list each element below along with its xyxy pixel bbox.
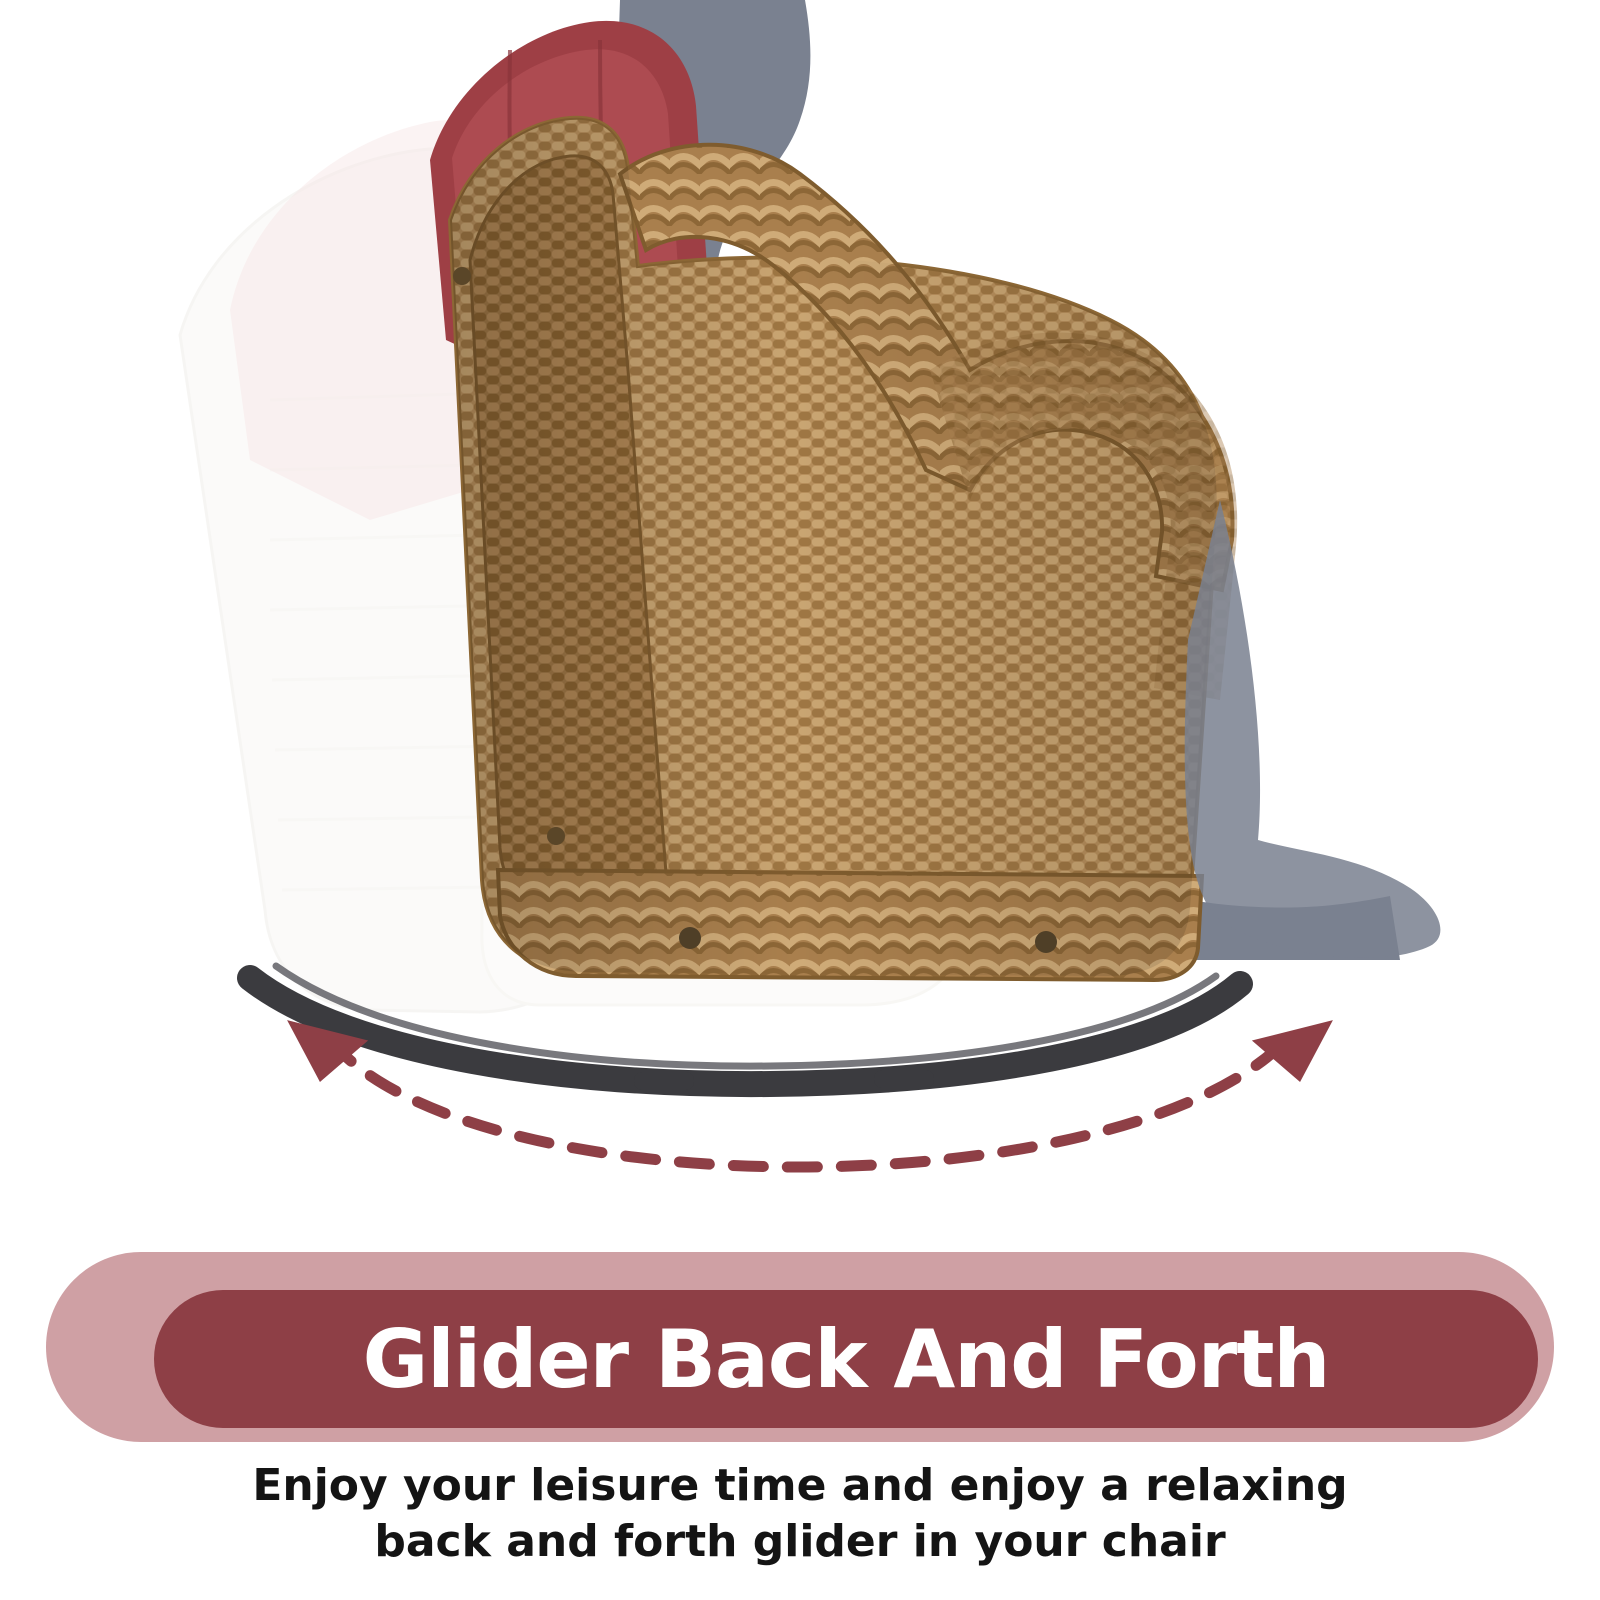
back-and-forth-arc-arrow <box>0 980 1600 1220</box>
bolt-seat-left <box>679 927 701 949</box>
caption-block: Glider Back And Forth Enjoy your leisure… <box>0 1240 1600 1600</box>
banner-title: Glider Back And Forth <box>363 1313 1330 1406</box>
chair-shadow <box>1180 500 1600 980</box>
subcaption: Enjoy your leisure time and enjoy a rela… <box>0 1458 1600 1571</box>
bolt-seat-right <box>1035 931 1057 953</box>
arrow-head-left <box>287 991 375 1082</box>
subcaption-line-1: Enjoy your leisure time and enjoy a rela… <box>0 1458 1600 1514</box>
banner-inner-pill: Glider Back And Forth <box>154 1290 1538 1428</box>
bolt-lower <box>547 827 565 845</box>
subcaption-line-2: back and forth glider in your chair <box>0 1514 1600 1570</box>
bolt-upper <box>453 267 471 285</box>
banner-outer-pill: Glider Back And Forth <box>46 1252 1554 1442</box>
motion-arrow-band <box>0 980 1600 1220</box>
